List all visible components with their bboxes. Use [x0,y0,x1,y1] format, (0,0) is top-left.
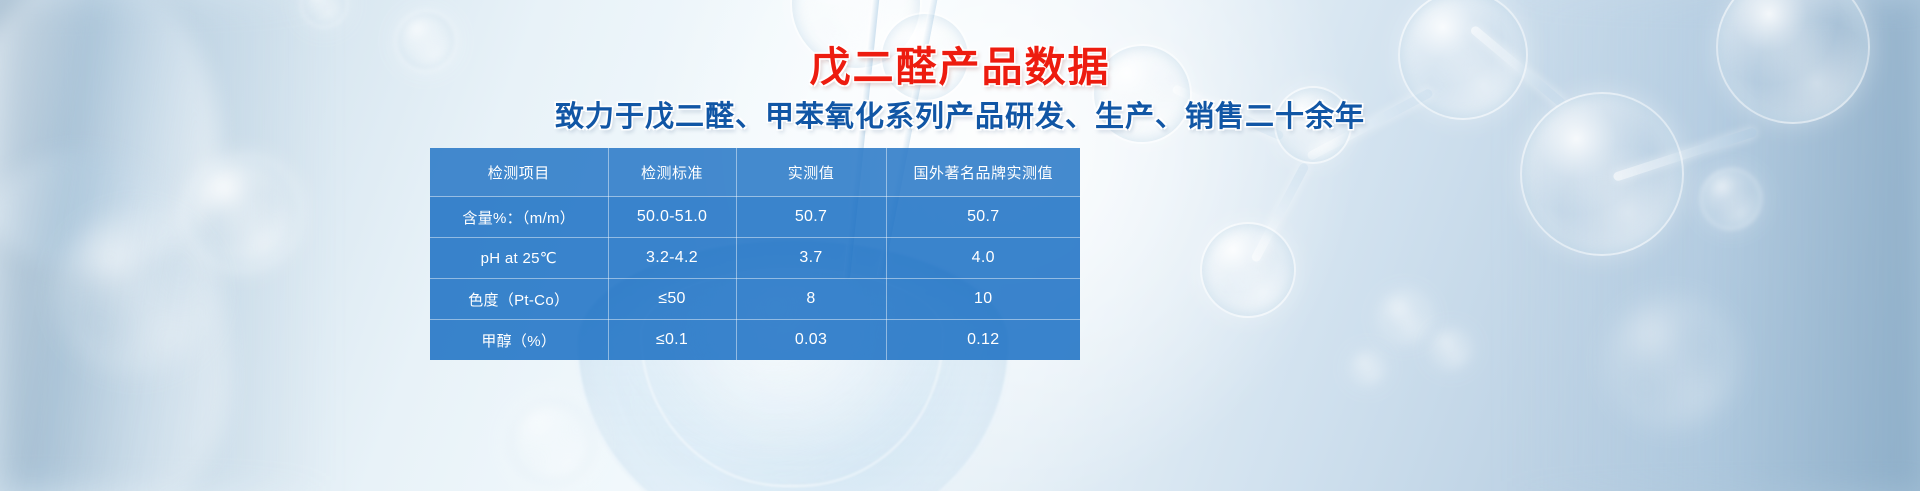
bubble-molecule-right-11 [1610,300,1734,424]
bubble-decor-left-2 [60,215,214,369]
bubble-decor-bottom [505,395,599,489]
molecule-bond-5 [1612,127,1757,182]
cell-item: 色度（Pt-Co） [430,279,608,320]
cell-standard: 3.2-4.2 [608,238,736,279]
cell-measured: 50.7 [736,197,886,238]
bubble-molecule-right-7 [1700,168,1762,230]
column-header-foreign: 国外著名品牌实测值 [886,148,1080,197]
spec-table-body: 含量%：（m/m） 50.0-51.0 50.7 50.7 pH at 25℃ … [430,197,1080,361]
spec-table-head: 检测项目 检测标准 实测值 国外著名品牌实测值 [430,148,1080,197]
cell-foreign: 50.7 [886,197,1080,238]
cell-standard: 50.0-51.0 [608,197,736,238]
molecule-bond-4 [1250,162,1310,263]
table-row: 含量%：（m/m） 50.0-51.0 50.7 50.7 [430,197,1080,238]
cell-measured: 0.03 [736,320,886,361]
bubble-molecule-right-3 [1200,222,1296,318]
glassware-shape-left-lower [0,150,230,491]
cell-foreign: 4.0 [886,238,1080,279]
table-row: 甲醇（%） ≤0.1 0.03 0.12 [430,320,1080,361]
cell-standard: ≤50 [608,279,736,320]
cell-measured: 3.7 [736,238,886,279]
cell-item: 甲醇（%） [430,320,608,361]
table-header-row: 检测项目 检测标准 实测值 国外著名品牌实测值 [430,148,1080,197]
product-data-banner: 戊二醛产品数据 致力于戊二醛、甲苯氧化系列产品研发、生产、销售二十余年 检测项目… [0,0,1920,491]
cell-item: 含量%：（m/m） [430,197,608,238]
cell-foreign: 0.12 [886,320,1080,361]
cell-measured: 8 [736,279,886,320]
page-subtitle: 致力于戊二醛、甲苯氧化系列产品研发、生产、销售二十余年 [0,102,1920,134]
table-row: 色度（Pt-Co） ≤50 8 10 [430,279,1080,320]
cell-item: pH at 25℃ [430,238,608,279]
spec-table-container: 检测项目 检测标准 实测值 国外著名品牌实测值 含量%：（m/m） 50.0-5… [430,148,1080,360]
column-header-measured: 实测值 [736,148,886,197]
spec-table: 检测项目 检测标准 实测值 国外著名品牌实测值 含量%：（m/m） 50.0-5… [430,148,1080,360]
table-row: pH at 25℃ 3.2-4.2 3.7 4.0 [430,238,1080,279]
bubble-molecule-right-9 [1432,330,1470,368]
page-title: 戊二醛产品数据 [0,47,1920,88]
glassware-shape-left [0,0,220,270]
bubble-molecule-right-8 [1380,292,1430,342]
column-header-item: 检测项目 [430,148,608,197]
bubble-decor-left [185,155,301,271]
cell-foreign: 10 [886,279,1080,320]
column-header-standard: 检测标准 [608,148,736,197]
cell-standard: ≤0.1 [608,320,736,361]
bubble-molecule-right-10 [1352,352,1384,384]
bubble-molecule-top-4 [300,0,348,28]
